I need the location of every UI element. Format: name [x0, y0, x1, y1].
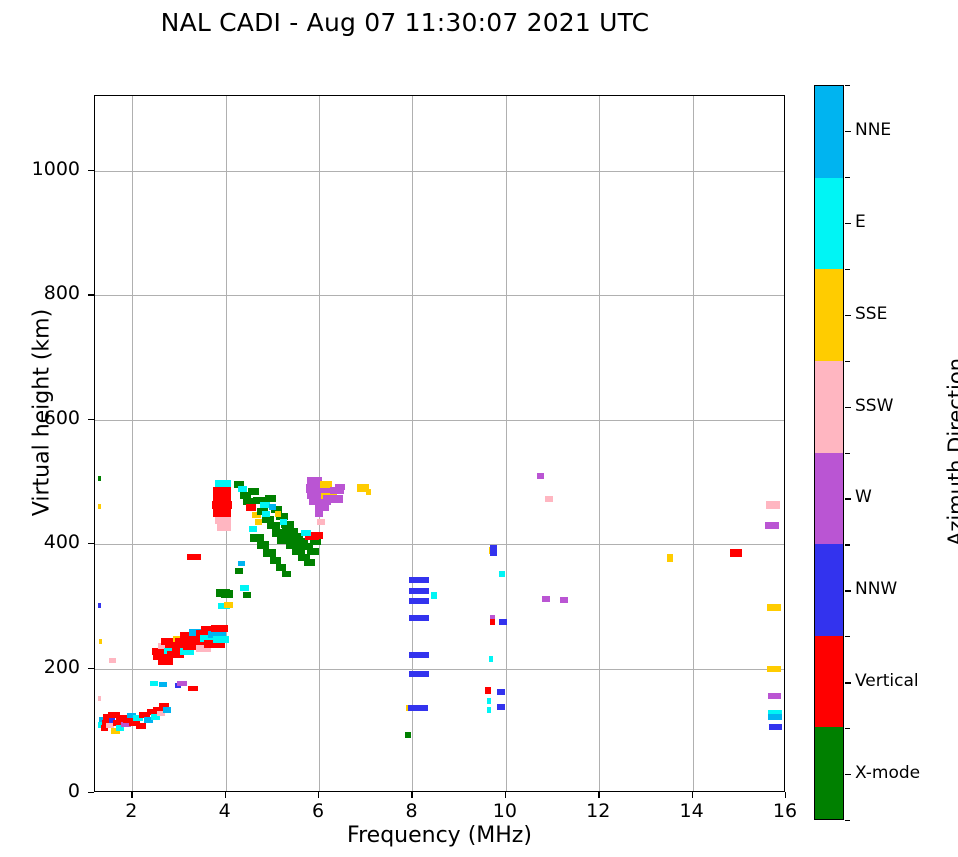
x-axis-tick — [131, 792, 132, 798]
scatter-point — [270, 557, 281, 564]
x-axis-tick-label: 14 — [662, 800, 722, 822]
scatter-point — [213, 494, 232, 502]
colorbar-tick — [845, 590, 851, 591]
colorbar-tick — [845, 407, 851, 408]
scatter-point — [768, 714, 782, 720]
colorbar-segment — [815, 636, 843, 728]
scatter-point — [177, 681, 187, 686]
scatter-point — [280, 519, 287, 525]
scatter-point — [537, 473, 544, 479]
colorbar-tick — [845, 223, 851, 224]
colorbar-boundary-tick — [845, 269, 850, 270]
scatter-point — [408, 705, 428, 711]
colorbar-segment — [815, 86, 843, 178]
y-axis-tick-label: 1000 — [10, 158, 80, 180]
scatter-point — [263, 549, 276, 557]
scatter-point — [150, 681, 157, 686]
x-axis-tick — [411, 792, 412, 798]
scatter-point — [307, 548, 319, 555]
scatter-point — [304, 559, 315, 566]
scatter-points — [95, 96, 784, 791]
scatter-point — [487, 707, 492, 713]
colorbar-label-nnw: NNW — [855, 579, 897, 599]
y-axis-tick — [88, 668, 94, 669]
scatter-point — [98, 603, 101, 608]
colorbar-label-w: W — [855, 487, 872, 507]
scatter-point — [765, 522, 780, 529]
scatter-point — [366, 489, 371, 495]
scatter-point — [159, 682, 167, 687]
x-axis-tick-label: 16 — [755, 800, 815, 822]
colorbar-boundary-tick — [845, 453, 850, 454]
y-axis-tick — [88, 419, 94, 420]
scatter-point — [246, 504, 255, 511]
scatter-point — [240, 585, 248, 591]
scatter-point — [99, 639, 102, 644]
scatter-point — [249, 526, 256, 532]
scatter-point — [136, 723, 146, 729]
plot-area — [94, 95, 785, 792]
scatter-point — [490, 619, 495, 625]
scatter-point — [315, 511, 323, 517]
scatter-point — [213, 509, 232, 517]
scatter-point — [243, 592, 251, 598]
scatter-point — [335, 484, 345, 490]
scatter-point — [213, 636, 229, 643]
x-axis-tick — [505, 792, 506, 798]
scatter-point — [109, 658, 116, 663]
scatter-point — [311, 532, 323, 539]
scatter-point — [487, 698, 492, 704]
scatter-point — [265, 495, 275, 502]
scatter-point — [221, 590, 233, 598]
scatter-point — [497, 704, 504, 710]
scatter-point — [497, 689, 504, 695]
scatter-point — [235, 568, 242, 574]
scatter-point — [187, 554, 201, 560]
y-axis-tick — [88, 792, 94, 793]
colorbar-tick — [845, 131, 851, 132]
scatter-point — [431, 592, 437, 599]
scatter-point — [405, 732, 412, 738]
page-title: NAL CADI - Aug 07 11:30:07 2021 UTC — [0, 8, 810, 37]
colorbar-segment — [815, 361, 843, 453]
x-axis-tick — [318, 792, 319, 798]
scatter-point — [262, 511, 269, 517]
scatter-point — [255, 519, 262, 525]
colorbar-tick — [845, 682, 851, 683]
scatter-point — [238, 561, 245, 566]
scatter-point — [267, 522, 280, 529]
y-axis-tick — [88, 170, 94, 171]
scatter-point — [217, 524, 231, 531]
scatter-point — [215, 480, 232, 487]
colorbar-title: Azimuth Direction — [944, 302, 958, 602]
scatter-point — [317, 519, 324, 525]
colorbar-segment — [815, 269, 843, 361]
scatter-point — [409, 598, 430, 604]
x-axis-tick — [225, 792, 226, 798]
scatter-point — [409, 588, 430, 594]
colorbar-boundary-tick — [845, 728, 850, 729]
x-axis-tick-label: 8 — [381, 800, 441, 822]
scatter-point — [98, 476, 101, 481]
colorbar-segment — [815, 727, 843, 819]
colorbar-boundary-tick — [845, 544, 850, 545]
x-axis-title: Frequency (MHz) — [94, 823, 785, 848]
scatter-point — [98, 504, 101, 509]
scatter-point — [667, 554, 673, 562]
scatter-point — [560, 597, 568, 603]
colorbar-label-ssw: SSW — [855, 396, 893, 416]
scatter-point — [409, 652, 430, 658]
colorbar-label-e: E — [855, 212, 866, 232]
scatter-point — [212, 501, 232, 509]
colorbar-segment — [815, 544, 843, 636]
x-axis-tick-label: 4 — [195, 800, 255, 822]
colorbar-boundary-tick — [845, 85, 850, 86]
scatter-point — [542, 596, 549, 602]
y-axis-tick — [88, 294, 94, 295]
y-axis-tick — [88, 543, 94, 544]
x-axis-tick-label: 6 — [288, 800, 348, 822]
colorbar-boundary-tick — [845, 177, 850, 178]
scatter-point — [409, 671, 430, 677]
y-axis-tick-label: 200 — [10, 656, 80, 678]
x-axis-tick — [692, 792, 693, 798]
scatter-point — [767, 666, 781, 672]
y-axis-title: Virtual height (km) — [30, 283, 55, 543]
colorbar-tick — [845, 774, 851, 775]
scatter-point — [211, 625, 228, 632]
colorbar-boundary-tick — [845, 361, 850, 362]
scatter-point — [215, 517, 231, 524]
ionogram-page: NAL CADI - Aug 07 11:30:07 2021 UTC 2468… — [0, 0, 958, 857]
scatter-point — [188, 686, 197, 691]
scatter-point — [301, 530, 310, 536]
x-axis-tick — [598, 792, 599, 798]
colorbar-label-sse: SSE — [855, 304, 887, 324]
x-axis-tick-label: 10 — [475, 800, 535, 822]
scatter-point — [499, 571, 506, 577]
scatter-point — [485, 687, 491, 694]
scatter-point — [269, 504, 276, 510]
colorbar-tick — [845, 498, 851, 499]
scatter-point — [409, 615, 430, 621]
colorbar-boundary-tick — [845, 636, 850, 637]
colorbar-segment — [815, 178, 843, 270]
scatter-point — [730, 549, 742, 557]
scatter-point — [213, 487, 231, 495]
y-axis-tick-label: 0 — [10, 780, 80, 802]
scatter-point — [489, 656, 494, 662]
scatter-point — [323, 495, 343, 503]
x-axis-tick-label: 2 — [101, 800, 161, 822]
scatter-point — [769, 724, 782, 730]
scatter-point — [315, 503, 329, 511]
scatter-point — [224, 602, 233, 608]
colorbar-boundary-tick — [845, 820, 850, 821]
scatter-point — [282, 571, 291, 577]
scatter-point — [490, 545, 497, 556]
colorbar — [814, 85, 844, 820]
colorbar-tick — [845, 315, 851, 316]
x-axis-tick — [785, 792, 786, 798]
colorbar-label-vertical: Vertical — [855, 671, 919, 691]
scatter-point — [766, 501, 780, 509]
scatter-point — [163, 707, 171, 713]
colorbar-segment — [815, 453, 843, 545]
scatter-point — [248, 488, 259, 495]
scatter-point — [499, 619, 506, 625]
scatter-point — [767, 604, 781, 611]
scatter-point — [409, 577, 430, 583]
scatter-point — [98, 696, 101, 701]
x-axis-tick-label: 12 — [568, 800, 628, 822]
scatter-point — [545, 496, 553, 502]
colorbar-label-nne: NNE — [855, 120, 891, 140]
scatter-point — [768, 693, 781, 699]
scatter-point — [275, 511, 282, 517]
scatter-point — [158, 658, 173, 665]
colorbar-label-x-mode: X-mode — [855, 763, 920, 783]
